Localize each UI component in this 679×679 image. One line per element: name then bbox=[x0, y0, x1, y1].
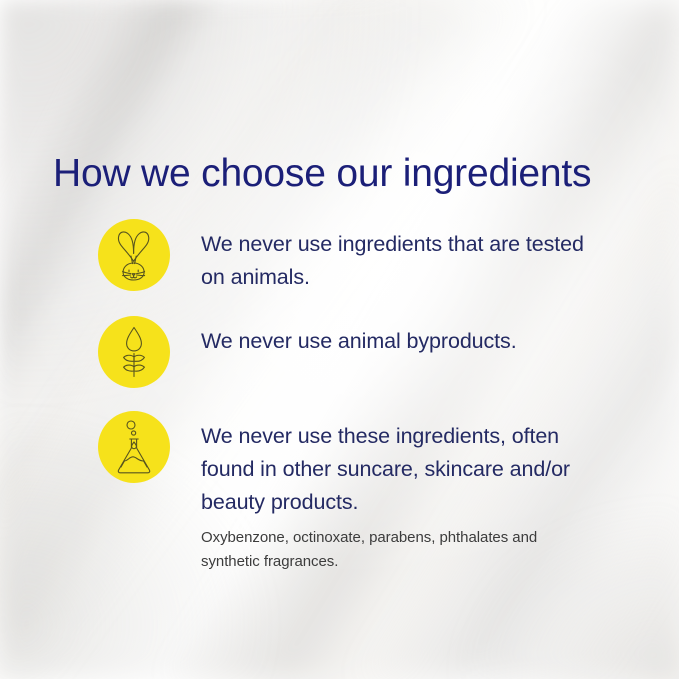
ingredient-philosophy-card: How we choose our ingredients bbox=[0, 0, 679, 679]
list-item-heading: We never use ingredients that are tested… bbox=[201, 228, 601, 294]
lab-flask-bubbles-icon bbox=[112, 420, 156, 474]
page-title: How we choose our ingredients bbox=[53, 150, 591, 198]
list-item-subtext: Oxybenzone, octinoxate, parabens, phthal… bbox=[201, 526, 561, 574]
list-item: We never use these ingredients, often fo… bbox=[98, 411, 601, 574]
list-item-text: We never use ingredients that are tested… bbox=[201, 219, 601, 294]
list-item-heading: We never use animal byproducts. bbox=[201, 325, 517, 358]
plant-leaf-droplet-icon bbox=[112, 326, 156, 378]
list-item-heading: We never use these ingredients, often fo… bbox=[201, 420, 601, 519]
list-item: We never use animal byproducts. bbox=[98, 316, 517, 388]
list-item: We never use ingredients that are tested… bbox=[98, 219, 601, 294]
list-item-text: We never use these ingredients, often fo… bbox=[201, 411, 601, 574]
badge-plant-based bbox=[98, 316, 170, 388]
badge-no-harsh-chemicals bbox=[98, 411, 170, 483]
list-item-text: We never use animal byproducts. bbox=[201, 316, 517, 358]
badge-cruelty-free bbox=[98, 219, 170, 291]
bunny-heart-ears-icon bbox=[111, 229, 157, 281]
